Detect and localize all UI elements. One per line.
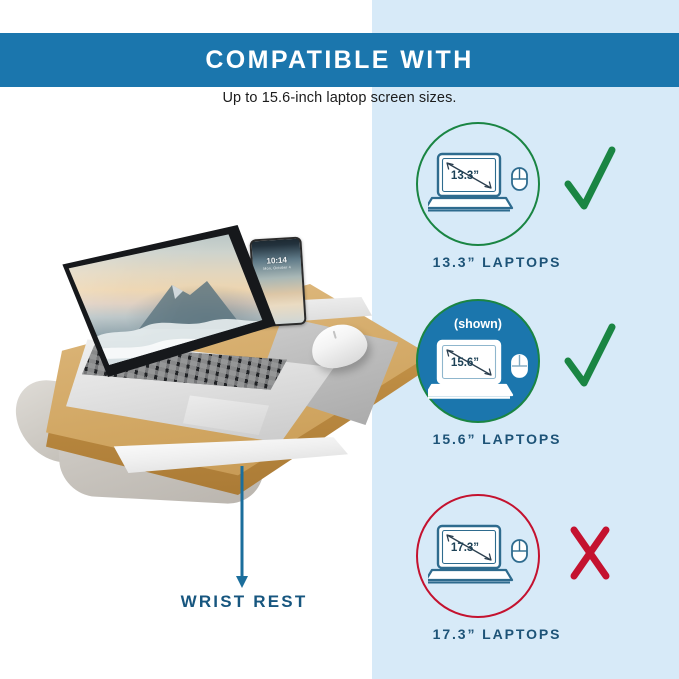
laptop-icon: 15.6”: [428, 339, 532, 403]
laptop-size-text: 15.6”: [451, 357, 479, 369]
compatibility-badge-15: (shown) 15.6” 15.6” LAPTOPS: [372, 295, 679, 475]
wrist-rest-label: WRIST REST: [110, 592, 378, 612]
product-photo: 10:14 Mon, October 4: [8, 215, 428, 505]
badge-caption: 17.3” LAPTOPS: [382, 626, 612, 642]
cross-icon: [560, 512, 620, 594]
check-icon: [560, 317, 620, 399]
header-banner: COMPATIBLE WITH: [0, 33, 679, 87]
wrist-rest-arrow-icon: [230, 466, 254, 590]
laptop-size-text: 13.3”: [451, 170, 479, 182]
laptop-icon: 17.3”: [428, 524, 532, 588]
laptop-size-text: 17.3”: [451, 542, 479, 554]
laptop-icon: 13.3”: [428, 152, 532, 216]
compatibility-badge-17: 17.3” 17.3” LAPTOPS: [372, 490, 679, 670]
badge-caption: 15.6” LAPTOPS: [382, 431, 612, 447]
page-title: COMPATIBLE WITH: [205, 46, 473, 75]
badge-caption: 13.3” LAPTOPS: [382, 254, 612, 270]
check-icon: [560, 140, 620, 222]
infographic-canvas: COMPATIBLE WITH Up to 15.6-inch laptop s…: [0, 0, 679, 679]
compatibility-badge-13: 13.3” 13.3” LAPTOPS: [372, 118, 679, 298]
header-subtitle: Up to 15.6-inch laptop screen sizes.: [0, 90, 679, 106]
badge-shown-text: (shown): [416, 317, 540, 331]
